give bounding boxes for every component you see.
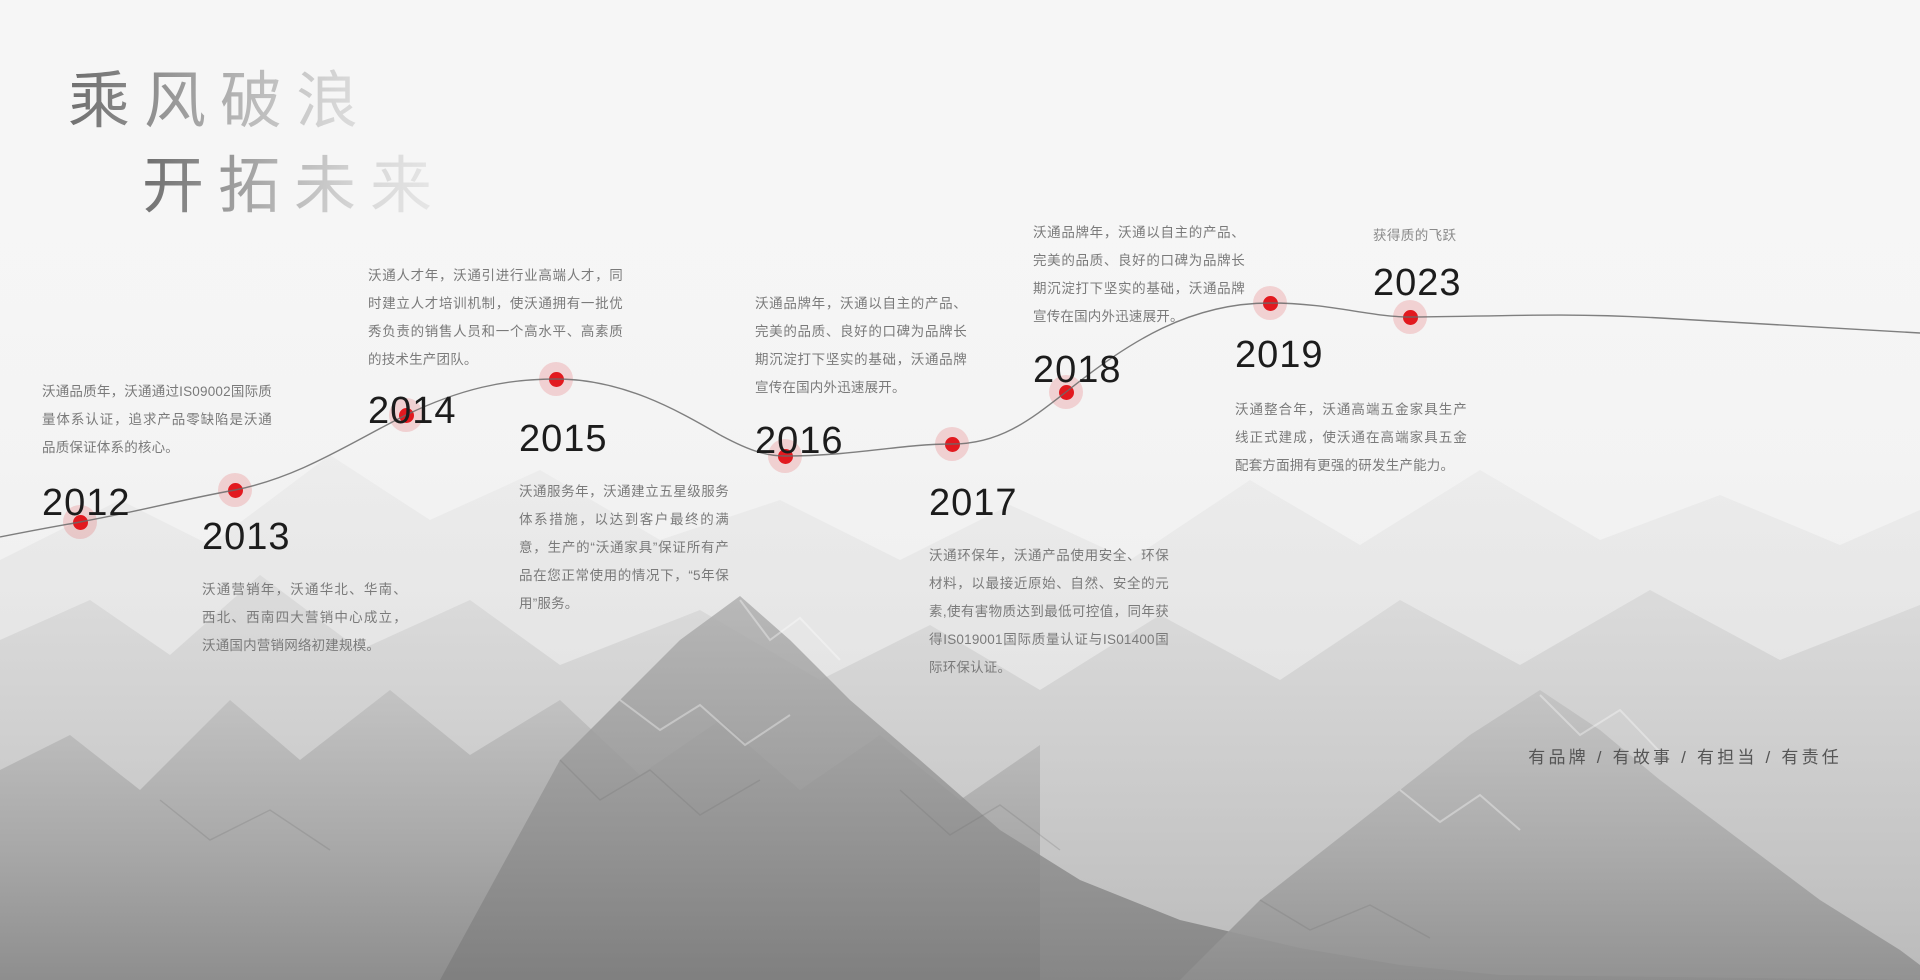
poster-title: 乘风破浪 开拓未来 (68, 68, 446, 223)
milestone-2015[interactable]: 2015 沃通服务年，沃通建立五星级服务体系措施，以达到客户最终的满意，生产的“… (519, 420, 729, 618)
milestone-2013[interactable]: 2013 沃通营销年，沃通华北、华南、西北、西南四大营销中心成立，沃通国内营销网… (202, 518, 407, 660)
milestone-2015-description: 沃通服务年，沃通建立五星级服务体系措施，以达到客户最终的满意，生产的“沃通家具”… (519, 478, 729, 618)
milestone-2019-description: 沃通整合年，沃通高端五金家具生产线正式建成，使沃通在高端家具五金配套方面拥有更强… (1235, 396, 1467, 480)
milestone-2023-year: 2023 (1373, 264, 1573, 302)
milestone-2015-year: 2015 (519, 420, 729, 458)
timeline-poster: 乘风破浪 开拓未来 沃通品质年，沃通通过IS09002国际质量体系认证，追求产品… (0, 0, 1920, 980)
title-line-2: 开拓未来 (142, 153, 446, 222)
milestone-2014[interactable]: 沃通人才年，沃通引进行业高端人才，同时建立人才培训机制，使沃通拥有一批优秀负责的… (368, 262, 623, 430)
milestone-2014-description: 沃通人才年，沃通引进行业高端人才，同时建立人才培训机制，使沃通拥有一批优秀负责的… (368, 262, 623, 374)
milestone-2016[interactable]: 沃通品牌年，沃通以自主的产品、完美的品质、良好的口碑为品牌长期沉淀打下坚实的基础… (755, 290, 967, 460)
milestone-2013-description: 沃通营销年，沃通华北、华南、西北、西南四大营销中心成立，沃通国内营销网络初建规模… (202, 576, 407, 660)
milestone-2012-description: 沃通品质年，沃通通过IS09002国际质量体系认证，追求产品零缺陷是沃通品质保证… (42, 378, 272, 462)
milestone-2018[interactable]: 沃通品牌年，沃通以自主的产品、完美的品质、良好的口碑为品牌长期沉淀打下坚实的基础… (1033, 219, 1245, 389)
milestone-2018-year: 2018 (1033, 351, 1245, 389)
milestone-2023-description: 获得质的飞跃 (1373, 224, 1573, 248)
milestone-2016-description: 沃通品牌年，沃通以自主的产品、完美的品质、良好的口碑为品牌长期沉淀打下坚实的基础… (755, 290, 967, 402)
milestone-2016-year: 2016 (755, 422, 967, 460)
milestone-2018-description: 沃通品牌年，沃通以自主的产品、完美的品质、良好的口碑为品牌长期沉淀打下坚实的基础… (1033, 219, 1245, 331)
footer-tagline: 有品牌 / 有故事 / 有担当 / 有责任 (1528, 743, 1842, 768)
milestone-2019-year: 2019 (1235, 336, 1467, 374)
milestone-2012[interactable]: 沃通品质年，沃通通过IS09002国际质量体系认证，追求产品零缺陷是沃通品质保证… (42, 378, 272, 522)
milestone-2017-description: 沃通环保年，沃通产品使用安全、环保材料，以最接近原始、自然、安全的元素,使有害物… (929, 542, 1169, 682)
milestone-2017[interactable]: 2017 沃通环保年，沃通产品使用安全、环保材料，以最接近原始、自然、安全的元素… (929, 484, 1169, 682)
milestone-2019[interactable]: 2019 沃通整合年，沃通高端五金家具生产线正式建成，使沃通在高端家具五金配套方… (1235, 336, 1467, 480)
milestone-2013-year: 2013 (202, 518, 407, 556)
title-line-1: 乘风破浪 (68, 68, 446, 137)
milestone-2023[interactable]: 获得质的飞跃 2023 (1373, 224, 1573, 302)
milestone-2017-year: 2017 (929, 484, 1169, 522)
